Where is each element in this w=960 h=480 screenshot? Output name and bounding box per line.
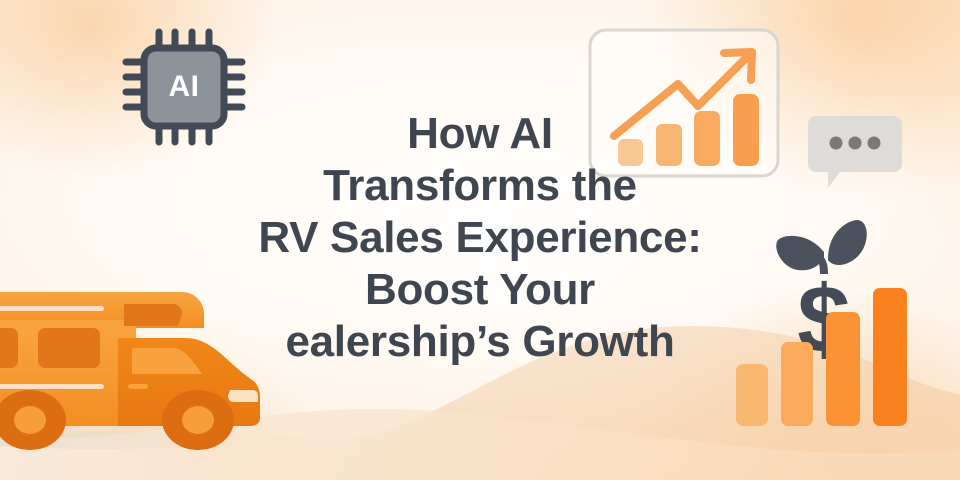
growth-bar-1 bbox=[618, 139, 643, 166]
growth-chart-icon bbox=[586, 26, 782, 186]
money-bar-1 bbox=[736, 364, 768, 426]
rv-door-handle bbox=[128, 384, 148, 389]
chat-bubble-shape bbox=[808, 116, 902, 188]
chip-body bbox=[144, 48, 224, 126]
money-bar-2 bbox=[781, 342, 813, 426]
rv-side-window-2 bbox=[38, 328, 100, 368]
money-bar-3 bbox=[826, 312, 860, 426]
chat-bubble-svg bbox=[806, 112, 904, 190]
rv-front-wheel bbox=[162, 390, 234, 450]
rv-bunk-window bbox=[124, 304, 182, 326]
chat-dot-1 bbox=[830, 137, 843, 150]
growth-bar-3 bbox=[694, 111, 720, 166]
chip-svg bbox=[122, 28, 246, 146]
chat-bubble-icon bbox=[806, 112, 904, 190]
rv-headlight bbox=[228, 390, 258, 402]
money-bar-4 bbox=[873, 288, 907, 426]
money-growth-icon: $ bbox=[728, 212, 936, 430]
growth-bar-2 bbox=[656, 124, 682, 166]
sprout-leaf-right bbox=[828, 220, 867, 265]
rv-illustration bbox=[0, 268, 276, 454]
rv-side-window-1 bbox=[0, 328, 18, 368]
growth-chart-card bbox=[586, 26, 782, 186]
chat-dot-3 bbox=[868, 137, 881, 150]
rv-svg bbox=[0, 268, 276, 454]
ai-chip-icon: AI bbox=[122, 28, 246, 146]
rv-stripe-bottom bbox=[0, 384, 104, 389]
growth-bar-4 bbox=[733, 94, 759, 166]
money-growth-svg: $ bbox=[728, 212, 936, 430]
banner-image: AI $ bbox=[0, 0, 960, 480]
chat-dot-2 bbox=[849, 137, 862, 150]
rv-stripe-top bbox=[0, 306, 104, 311]
